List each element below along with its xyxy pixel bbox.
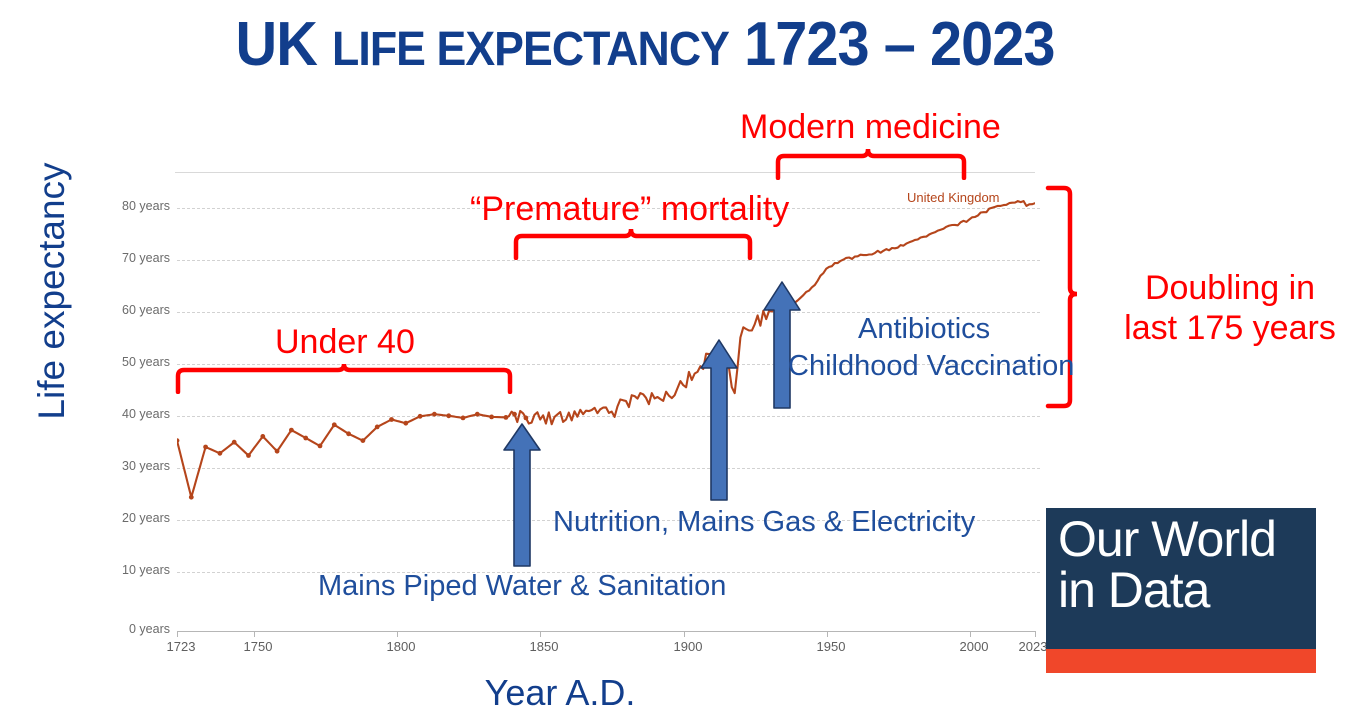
x-tick-label-1900: 1900 <box>674 639 703 654</box>
series-label-united-kingdom: United Kingdom <box>907 190 1000 205</box>
x-tick-1900 <box>684 631 685 637</box>
logo-line-2: in Data <box>1058 565 1316 616</box>
y-tick-label-50: 50 years <box>110 355 170 369</box>
annotation-doubling: Doubling in last 175 years <box>1110 268 1350 348</box>
annotation-antibiotics: Antibiotics <box>858 313 990 346</box>
x-axis-line <box>177 631 1035 632</box>
x-tick-1750 <box>254 631 255 637</box>
x-tick-label-1723: 1723 <box>167 639 196 654</box>
y-tick-label-70: 70 years <box>110 251 170 265</box>
bracket-premature-mortality <box>508 226 766 260</box>
y-tick-label-80: 80 years <box>110 199 170 213</box>
annotation-premature-mortality: “Premature” mortality <box>470 190 789 229</box>
x-tick-1850 <box>540 631 541 637</box>
x-tick-1950 <box>827 631 828 637</box>
logo-line-1: Our World <box>1058 514 1316 565</box>
x-tick-1800 <box>397 631 398 637</box>
page-title-smallcaps: LIFE EXPECTANCY <box>332 23 729 76</box>
y-tick-label-30: 30 years <box>110 459 170 473</box>
annotation-doubling-line2: last 175 years <box>1110 308 1350 348</box>
annotation-doubling-line1: Doubling in <box>1110 268 1350 308</box>
y-tick-label-60: 60 years <box>110 303 170 317</box>
y-axis-title: Life expectancy <box>31 161 73 421</box>
annotation-under-40: Under 40 <box>275 323 415 362</box>
x-tick-label-1950: 1950 <box>817 639 846 654</box>
page-title: UK LIFE EXPECTANCY 1723 – 2023 <box>45 12 1245 77</box>
x-tick-2000 <box>970 631 971 637</box>
annotation-mains-piped-water: Mains Piped Water & Sanitation <box>318 570 726 603</box>
bracket-under-40 <box>170 360 530 394</box>
bracket-modern-medicine <box>770 146 980 180</box>
x-tick-label-2023: 2023 <box>1019 639 1048 654</box>
x-tick-label-1800: 1800 <box>387 639 416 654</box>
x-tick-1723 <box>177 631 178 637</box>
annotation-modern-medicine: Modern medicine <box>740 108 1001 147</box>
arrow-mains-piped-water <box>500 420 544 570</box>
x-tick-label-2000: 2000 <box>960 639 989 654</box>
x-tick-2023 <box>1035 631 1036 637</box>
logo-accent-bar <box>1046 649 1316 673</box>
arrow-nutrition-gas-electricity <box>697 336 741 504</box>
annotation-nutrition: Nutrition, Mains Gas & Electricity <box>553 506 975 539</box>
page-title-lead: UK <box>235 10 316 79</box>
x-tick-label-1850: 1850 <box>530 639 559 654</box>
annotation-childhood-vaccination: Childhood Vaccination <box>788 350 1074 383</box>
y-tick-label-0: 0 years <box>110 622 170 636</box>
x-axis-title: Year A.D. <box>430 672 690 714</box>
our-world-in-data-logo[interactable]: Our World in Data <box>1046 508 1316 673</box>
arrow-antibiotics-vaccination <box>760 278 804 412</box>
logo-text: Our World in Data <box>1046 514 1316 616</box>
y-tick-label-10: 10 years <box>110 563 170 577</box>
y-tick-label-40: 40 years <box>110 407 170 421</box>
x-tick-label-1750: 1750 <box>244 639 273 654</box>
page-title-years: 1723 – 2023 <box>744 10 1054 79</box>
y-tick-label-20: 20 years <box>110 511 170 525</box>
